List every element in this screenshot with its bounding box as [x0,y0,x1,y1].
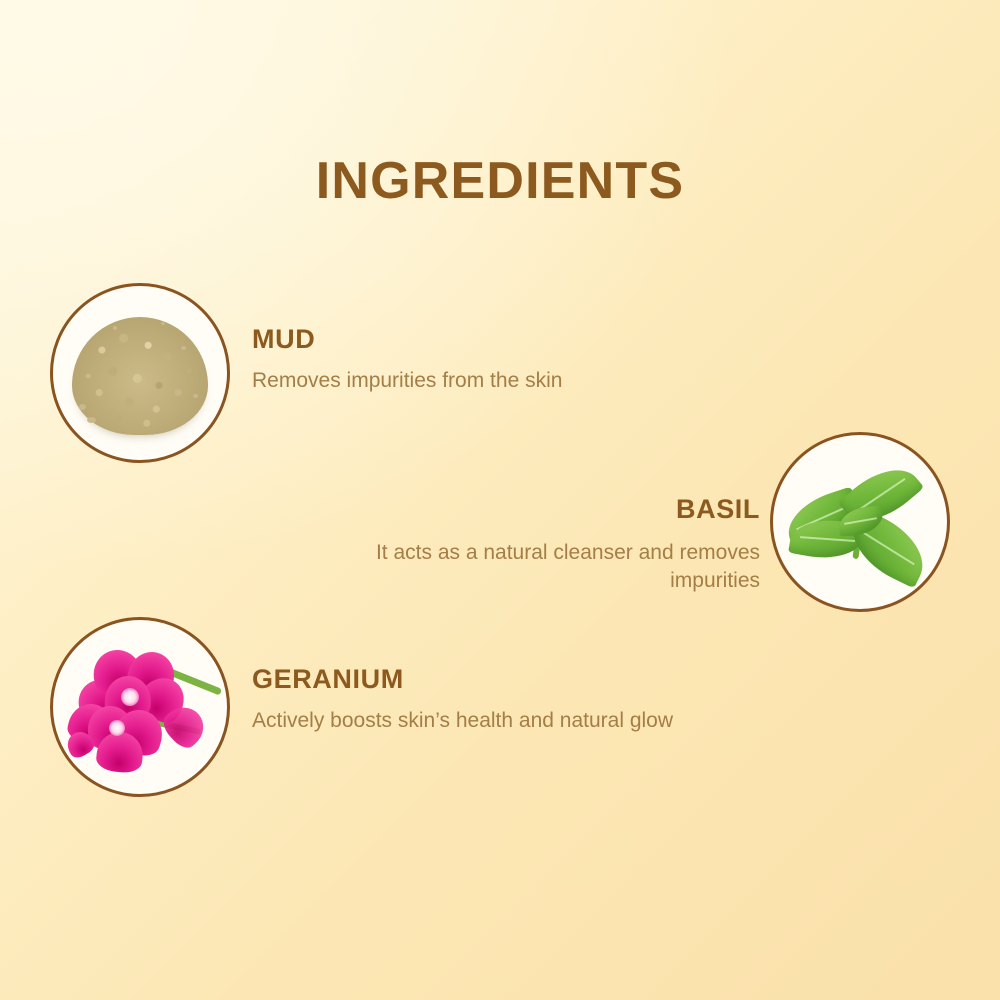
mud-speck [79,404,86,410]
ingredient-image-basil [770,432,950,612]
mud-granules-image [53,286,227,460]
ingredient-image-mud [50,283,230,463]
ingredient-text-geranium: GERANIUM Actively boosts skin’s health a… [252,665,702,735]
ingredient-description-geranium: Actively boosts skin’s health and natura… [252,707,702,735]
geranium-flower-center [121,688,139,706]
ingredient-name-mud: MUD [252,325,722,355]
mud-speck [193,394,198,398]
mud-speck [161,322,165,325]
ingredient-text-mud: MUD Removes impurities from the skin [252,325,722,395]
ingredient-name-basil: BASIL [360,495,760,525]
ingredient-name-geranium: GERANIUM [252,665,702,695]
mud-speck [181,346,186,350]
ingredient-description-mud: Removes impurities from the skin [252,367,722,395]
mud-speck [113,326,117,330]
geranium-flower-center [109,720,125,736]
page-title: INGREDIENTS [0,155,1000,207]
ingredients-poster: INGREDIENTS MUD Removes impurities from … [0,0,1000,1000]
geranium-flower-image [53,620,227,794]
ingredient-image-geranium [50,617,230,797]
ingredient-text-basil: BASIL It acts as a natural cleanser and … [360,495,760,595]
basil-leaves-image [773,435,947,609]
ingredient-description-basil: It acts as a natural cleanser and remove… [360,539,760,596]
mud-speck [87,417,96,423]
